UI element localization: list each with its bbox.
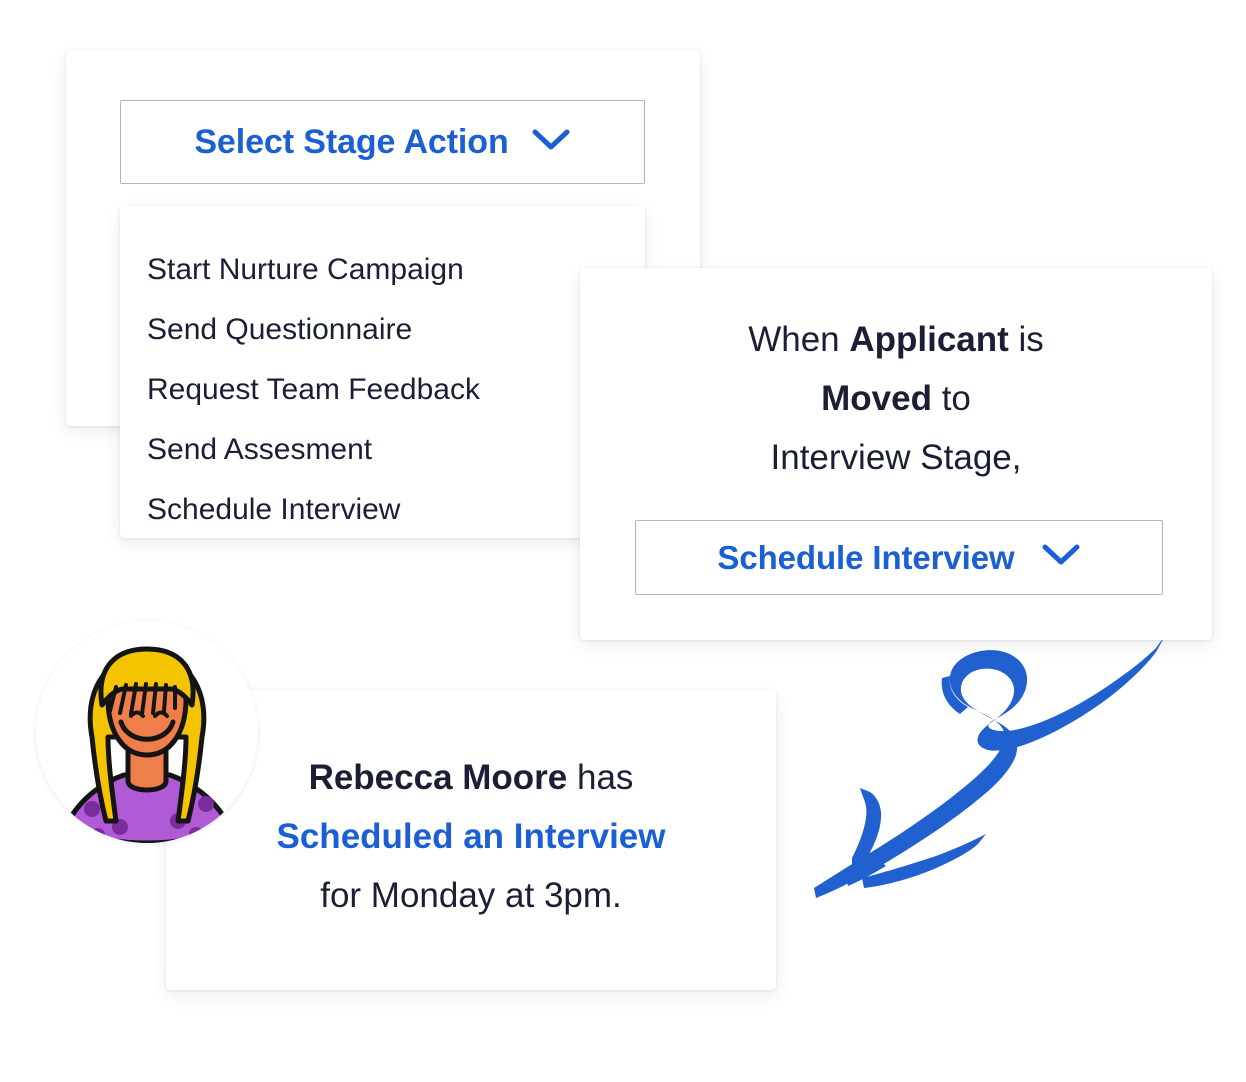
menu-item-start-nurture-campaign[interactable]: Start Nurture Campaign [120,240,645,300]
trigger-line3: Interview Stage, [771,438,1022,477]
stage-action-menu-list: Start Nurture Campaign Send Questionnair… [120,206,645,540]
stage-action-menu: Start Nurture Campaign Send Questionnair… [120,206,645,538]
notification-message: Rebecca Moore has Scheduled an Interview… [208,748,734,925]
chevron-down-icon [1041,542,1081,573]
trigger-line2-suffix: to [932,379,971,418]
notification-person-name: Rebecca Moore [309,758,568,797]
menu-item-send-assesment[interactable]: Send Assesment [120,420,645,480]
hand-drawn-arrow-icon [800,620,1200,910]
schedule-interview-label: Schedule Interview [717,539,1014,577]
trigger-description: When Applicant is Moved to Interview Sta… [620,310,1172,487]
schedule-interview-dropdown[interactable]: Schedule Interview [635,520,1163,595]
avatar [36,621,258,843]
menu-item-send-questionnaire[interactable]: Send Questionnaire [120,300,645,360]
page-root: Start Nurture Campaign Send Questionnair… [0,0,1246,1082]
trigger-line1-suffix: is [1009,320,1044,359]
trigger-line1-bold: Applicant [849,320,1008,359]
select-stage-action-dropdown[interactable]: Select Stage Action [120,100,645,184]
trigger-line1-prefix: When [748,320,849,359]
select-stage-action-label: Select Stage Action [194,123,508,162]
notification-detail: for Monday at 3pm. [320,876,622,915]
notification-verb: has [567,758,633,797]
trigger-line2-bold: Moved [821,379,932,418]
notification-action-link[interactable]: Scheduled an Interview [277,817,666,856]
chevron-down-icon [531,127,571,158]
menu-item-request-team-feedback[interactable]: Request Team Feedback [120,360,645,420]
menu-item-schedule-interview[interactable]: Schedule Interview [120,480,645,540]
